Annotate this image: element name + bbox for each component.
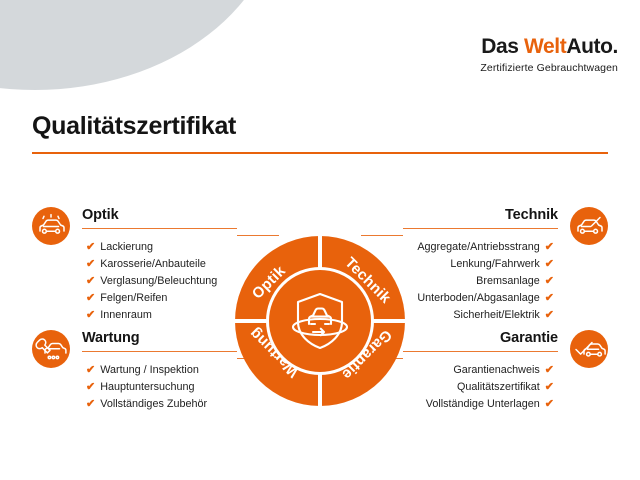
brand-logo: Das WeltAuto. Zertifizierte Gebrauchtwag… — [480, 36, 618, 74]
page-header: Das WeltAuto. Zertifizierte Gebrauchtwag… — [0, 0, 640, 100]
list-item: Vollständige Unterlagen✔ — [403, 396, 554, 413]
check-icon: ✔ — [545, 364, 554, 376]
shield-car-inspection-icon — [290, 290, 350, 352]
section-technik-header: Technik — [403, 207, 608, 229]
section-optik: Optik ✔Lackierung ✔Karosserie/Anbauteile… — [32, 207, 237, 324]
section-optik-header: Optik — [32, 207, 237, 229]
check-icon: ✔ — [545, 398, 554, 410]
section-technik-list: Aggregate/Antriebsstrang✔ Lenkung/Fahrwe… — [403, 239, 554, 324]
section-technik-title: Technik — [505, 207, 558, 223]
list-item-label: Felgen/Reifen — [100, 292, 167, 304]
section-garantie-title: Garantie — [500, 330, 558, 346]
list-item: Lenkung/Fahrwerk✔ — [403, 256, 554, 273]
list-item: ✔Verglasung/Beleuchtung — [86, 273, 237, 290]
list-item: ✔Hauptuntersuchung — [86, 379, 237, 396]
check-icon: ✔ — [86, 241, 95, 253]
check-icon: ✔ — [545, 309, 554, 321]
list-item: Aggregate/Antriebsstrang✔ — [403, 239, 554, 256]
check-icon: ✔ — [86, 309, 95, 321]
section-wartung-divider — [82, 351, 237, 352]
quality-wheel-diagram: Optik Technik Wartung Garantie — [235, 236, 405, 406]
list-item-label: Hauptuntersuchung — [100, 381, 194, 393]
list-item-label: Vollständige Unterlagen — [426, 398, 540, 410]
list-item: ✔Innenraum — [86, 307, 237, 324]
check-icon: ✔ — [545, 275, 554, 287]
list-item: Qualitätszertifikat✔ — [403, 379, 554, 396]
list-item-label: Sicherheit/Elektrik — [453, 309, 539, 321]
brand-name-welt: Welt — [524, 35, 566, 58]
list-item-label: Aggregate/Antriebsstrang — [417, 241, 539, 253]
list-item: Unterboden/Abgasanlage✔ — [403, 290, 554, 307]
header-gray-shape — [0, 0, 280, 90]
check-icon: ✔ — [86, 292, 95, 304]
section-optik-list: ✔Lackierung ✔Karosserie/Anbauteile ✔Verg… — [86, 239, 237, 324]
list-item-label: Vollständiges Zubehör — [100, 398, 207, 410]
section-wartung-header: Wartung — [32, 330, 237, 352]
check-icon: ✔ — [545, 241, 554, 253]
brand-name-das: Das — [481, 35, 524, 58]
list-item-label: Lackierung — [100, 241, 153, 253]
check-icon: ✔ — [545, 258, 554, 270]
section-garantie-list: Garantienachweis✔ Qualitätszertifikat✔ V… — [403, 362, 554, 413]
section-wartung-title: Wartung — [82, 330, 140, 346]
brand-tagline: Zertifizierte Gebrauchtwagen — [480, 63, 618, 74]
check-icon: ✔ — [86, 364, 95, 376]
list-item: ✔Wartung / Inspektion — [86, 362, 237, 379]
section-garantie-divider — [403, 351, 558, 352]
section-wartung-list: ✔Wartung / Inspektion ✔Hauptuntersuchung… — [86, 362, 237, 413]
section-technik: Technik Aggregate/Antriebsstrang✔ Lenkun… — [403, 207, 608, 324]
section-optik-divider — [82, 228, 237, 229]
check-icon: ✔ — [545, 292, 554, 304]
list-item-label: Innenraum — [100, 309, 152, 321]
list-item: Sicherheit/Elektrik✔ — [403, 307, 554, 324]
list-item-label: Unterboden/Abgasanlage — [417, 292, 539, 304]
list-item: ✔Lackierung — [86, 239, 237, 256]
list-item: ✔Vollständiges Zubehör — [86, 396, 237, 413]
brand-name: Das WeltAuto. — [480, 36, 618, 57]
list-item-label: Qualitätszertifikat — [457, 381, 540, 393]
list-item: ✔Karosserie/Anbauteile — [86, 256, 237, 273]
list-item-label: Wartung / Inspektion — [100, 364, 199, 376]
check-icon: ✔ — [86, 258, 95, 270]
list-item-label: Bremsanlage — [476, 275, 540, 287]
list-item: Bremsanlage✔ — [403, 273, 554, 290]
list-item-label: Lenkung/Fahrwerk — [450, 258, 539, 270]
list-item-label: Karosserie/Anbauteile — [100, 258, 206, 270]
section-technik-divider — [403, 228, 558, 229]
brand-name-auto: Auto. — [566, 35, 618, 58]
section-wartung: Wartung ✔Wartung / Inspektion ✔Hauptunte… — [32, 330, 237, 413]
check-icon: ✔ — [86, 275, 95, 287]
list-item-label: Garantienachweis — [453, 364, 539, 376]
section-garantie-header: Garantie — [403, 330, 608, 352]
check-icon: ✔ — [545, 381, 554, 393]
section-optik-title: Optik — [82, 207, 119, 223]
page-title: Qualitätszertifikat — [32, 112, 236, 141]
list-item: ✔Felgen/Reifen — [86, 290, 237, 307]
check-icon: ✔ — [86, 381, 95, 393]
section-garantie: Garantie Garantienachweis✔ Qualitätszert… — [403, 330, 608, 413]
list-item-label: Verglasung/Beleuchtung — [100, 275, 217, 287]
check-icon: ✔ — [86, 398, 95, 410]
list-item: Garantienachweis✔ — [403, 362, 554, 379]
title-divider — [32, 152, 608, 154]
